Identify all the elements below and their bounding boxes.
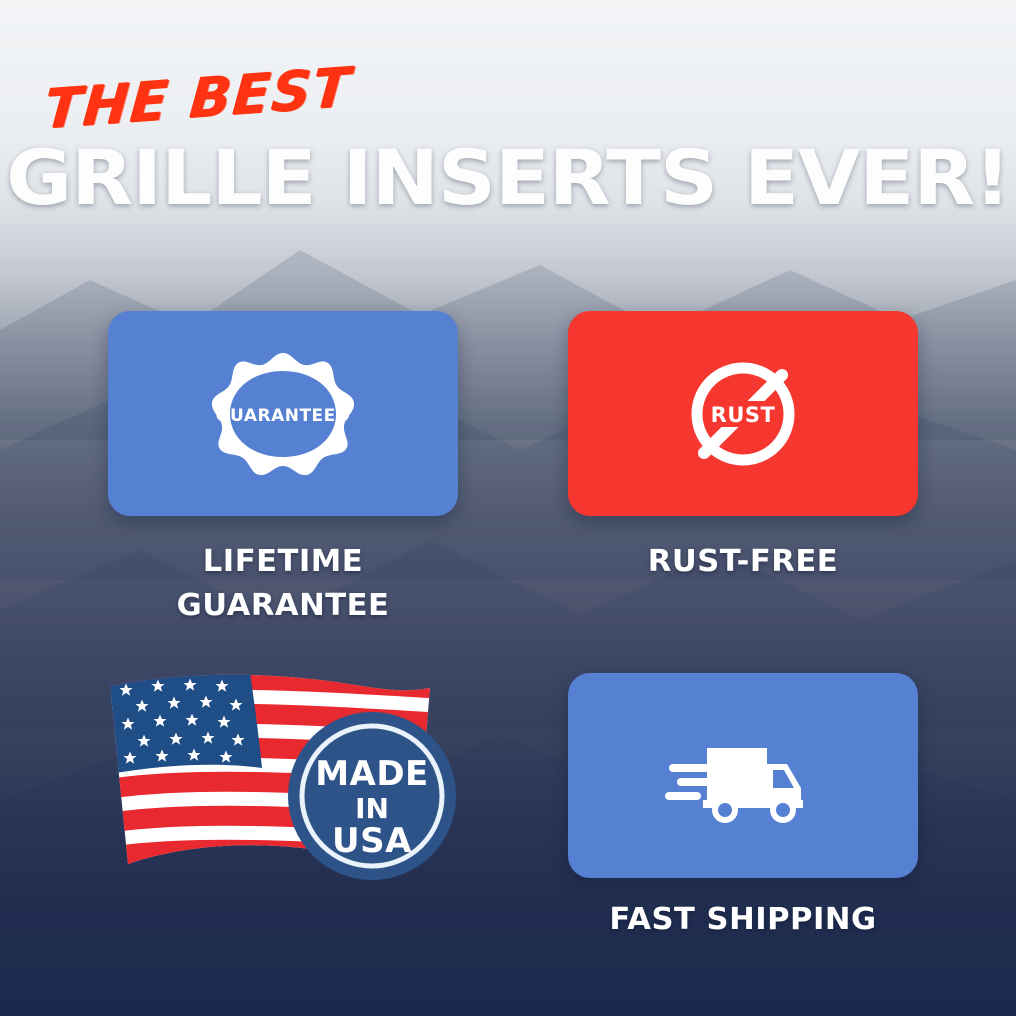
no-rust-label: RUST — [711, 403, 776, 427]
guaranteed-seal-icon: GUARANTEED — [208, 349, 358, 479]
caption-line-1: FAST SHIPPING — [565, 898, 922, 942]
feature-caption-guarantee: LIFETIME GUARANTEE — [105, 540, 462, 627]
no-rust-icon: RUST — [678, 349, 808, 479]
feature-card-fast-shipping[interactable] — [568, 673, 918, 878]
caption-line-1: LIFETIME — [105, 540, 462, 584]
badge-line-usa: USA — [332, 821, 412, 861]
made-in-usa-badge: MADE IN USA — [288, 712, 456, 880]
badge-line-made: MADE — [315, 754, 429, 794]
feature-caption-fast-shipping: FAST SHIPPING — [565, 898, 922, 942]
feature-card-guarantee[interactable]: GUARANTEED — [108, 311, 458, 516]
page-title: GRILLE INSERTS EVER! — [0, 140, 1016, 216]
delivery-truck-icon — [663, 726, 823, 826]
feature-card-rust-free[interactable]: RUST — [568, 311, 918, 516]
usa-flag-icon: MADE IN USA — [100, 668, 460, 883]
caption-line-1: RUST-FREE — [565, 540, 922, 584]
guaranteed-seal-label: GUARANTEED — [216, 406, 351, 426]
feature-caption-rust-free: RUST-FREE — [565, 540, 922, 584]
promo-graphic: THE BEST GRILLE INSERTS EVER! GUARANTEED… — [0, 0, 1016, 1016]
feature-made-in-usa[interactable]: MADE IN USA — [100, 668, 460, 883]
caption-line-2: GUARANTEE — [105, 584, 462, 628]
headline-kicker: THE BEST — [42, 60, 353, 137]
